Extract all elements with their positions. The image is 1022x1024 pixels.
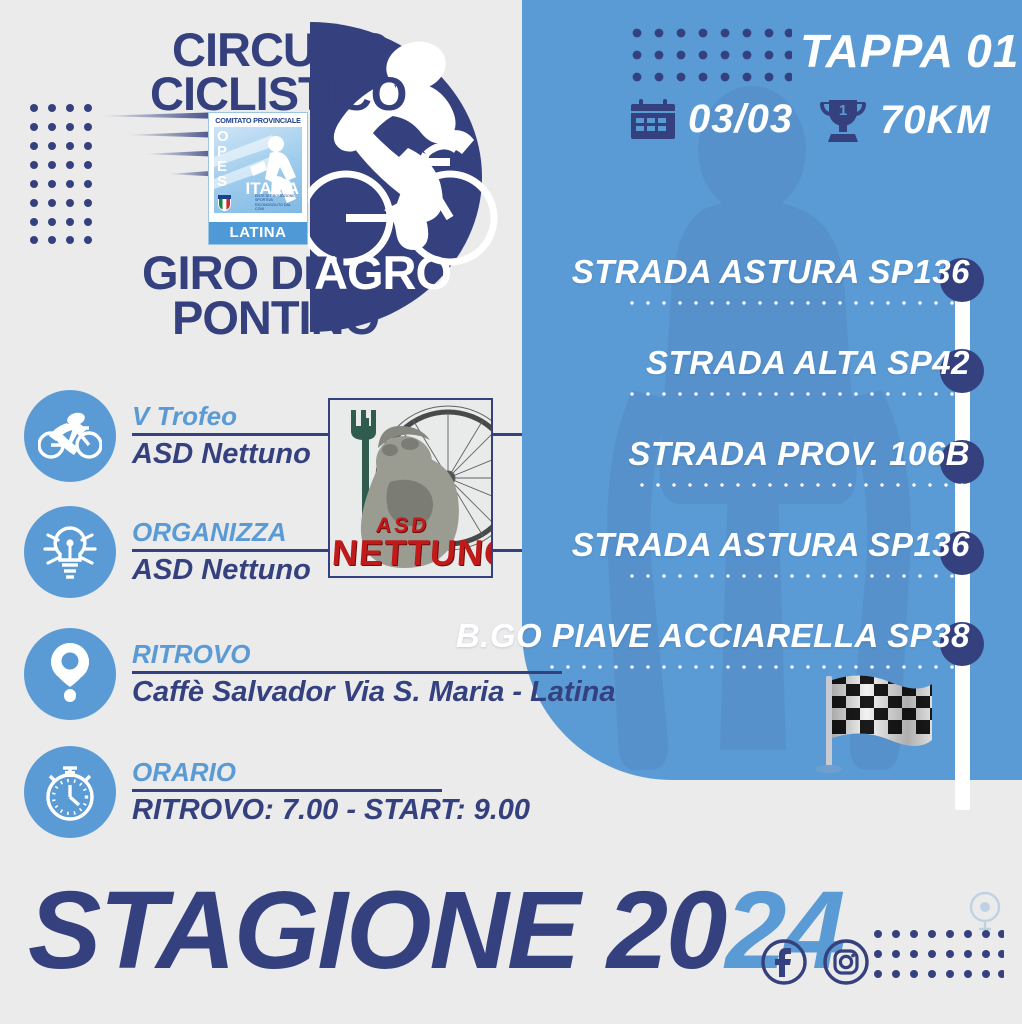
facebook-icon[interactable] [760, 938, 808, 986]
logo-line-ciclistico: CICLISTICO [150, 70, 406, 117]
stage-title: TAPPA 01 [800, 24, 1000, 78]
pepeblu-logo [962, 890, 1008, 936]
lightbulb-icon [24, 506, 116, 598]
trophy-rank-number: 1 [839, 102, 847, 119]
route-dashed-connector [634, 483, 964, 487]
social-links [760, 938, 870, 986]
checkered-flag-icon [812, 668, 942, 778]
info-divider [132, 789, 442, 792]
info-text-orario: ORARIO RITROVO: 7.00 - START: 9.00 [132, 757, 530, 826]
opes-badge-artwork: OPES ITALIA ENTE DI PROMOZIONE SPORTIVA … [214, 127, 302, 213]
stage-distance: 1 70KM [818, 96, 991, 144]
stage-date-value: 03/03 [688, 97, 793, 142]
route-dashed-connector [624, 574, 964, 578]
info-row-orario: ORARIO RITROVO: 7.00 - START: 9.00 [24, 746, 530, 838]
stopwatch-icon [24, 746, 116, 838]
info-text-ritrovo: RITROVO Caffè Salvador Via S. Maria - La… [132, 639, 616, 708]
info-divider [132, 671, 562, 674]
info-label: ORARIO [132, 759, 530, 786]
logo-line-circuito: CIRCUITO [172, 26, 390, 73]
calendar-icon [630, 96, 676, 142]
season-title: STAGIONE 2024 [28, 876, 844, 986]
route-stop-label: STRADA ASTURA SP136 [572, 253, 970, 291]
route-stop-label: STRADA ASTURA SP136 [572, 526, 970, 564]
route-stop-label: STRADA ALTA SP42 [646, 344, 970, 382]
cyclist-icon [24, 390, 116, 482]
opes-letters: OPES [217, 129, 229, 189]
nettuno-text-main: NETTUNO [331, 532, 493, 574]
dot-grid-icon [874, 930, 1004, 978]
event-poster: TAPPA 01 03/03 1 70KM STRADA ASTUR [0, 0, 1022, 1024]
info-value: Caffè Salvador Via S. Maria - Latina [132, 677, 616, 709]
dot-grid-icon [30, 104, 92, 244]
opes-badge-top-text: COMITATO PROVINCIALE [209, 113, 307, 125]
opes-fineprint: ENTE DI PROMOZIONE SPORTIVA RICONOSCIUTO… [255, 194, 299, 211]
opes-badge-bottom-text: LATINA [209, 222, 307, 244]
info-label: RITROVO [132, 641, 616, 668]
route-stop-label: STRADA PROV. 106B [628, 435, 970, 473]
info-row-ritrovo: RITROVO Caffè Salvador Via S. Maria - La… [24, 628, 616, 720]
stage-distance-value: 70KM [880, 98, 991, 143]
map-pin-icon [24, 628, 116, 720]
italy-shield-icon [218, 195, 231, 211]
asd-nettuno-logo: ASD NETTUNO [328, 398, 493, 578]
info-value: RITROVO: 7.00 - START: 9.00 [132, 795, 530, 827]
opes-badge: COMITATO PROVINCIALE OPES ITALIA [208, 112, 308, 245]
season-text: STAGIONE 20 [28, 869, 725, 992]
route-dashed-connector [624, 392, 964, 396]
dot-grid-icon [632, 28, 792, 86]
instagram-icon[interactable] [822, 938, 870, 986]
logo-line-agro: AGRO [314, 249, 451, 296]
stage-date: 03/03 [630, 96, 793, 142]
trophy-icon: 1 [818, 96, 868, 144]
route-dashed-connector [624, 301, 964, 305]
logo-line-pontino: PONTINO [172, 294, 379, 341]
